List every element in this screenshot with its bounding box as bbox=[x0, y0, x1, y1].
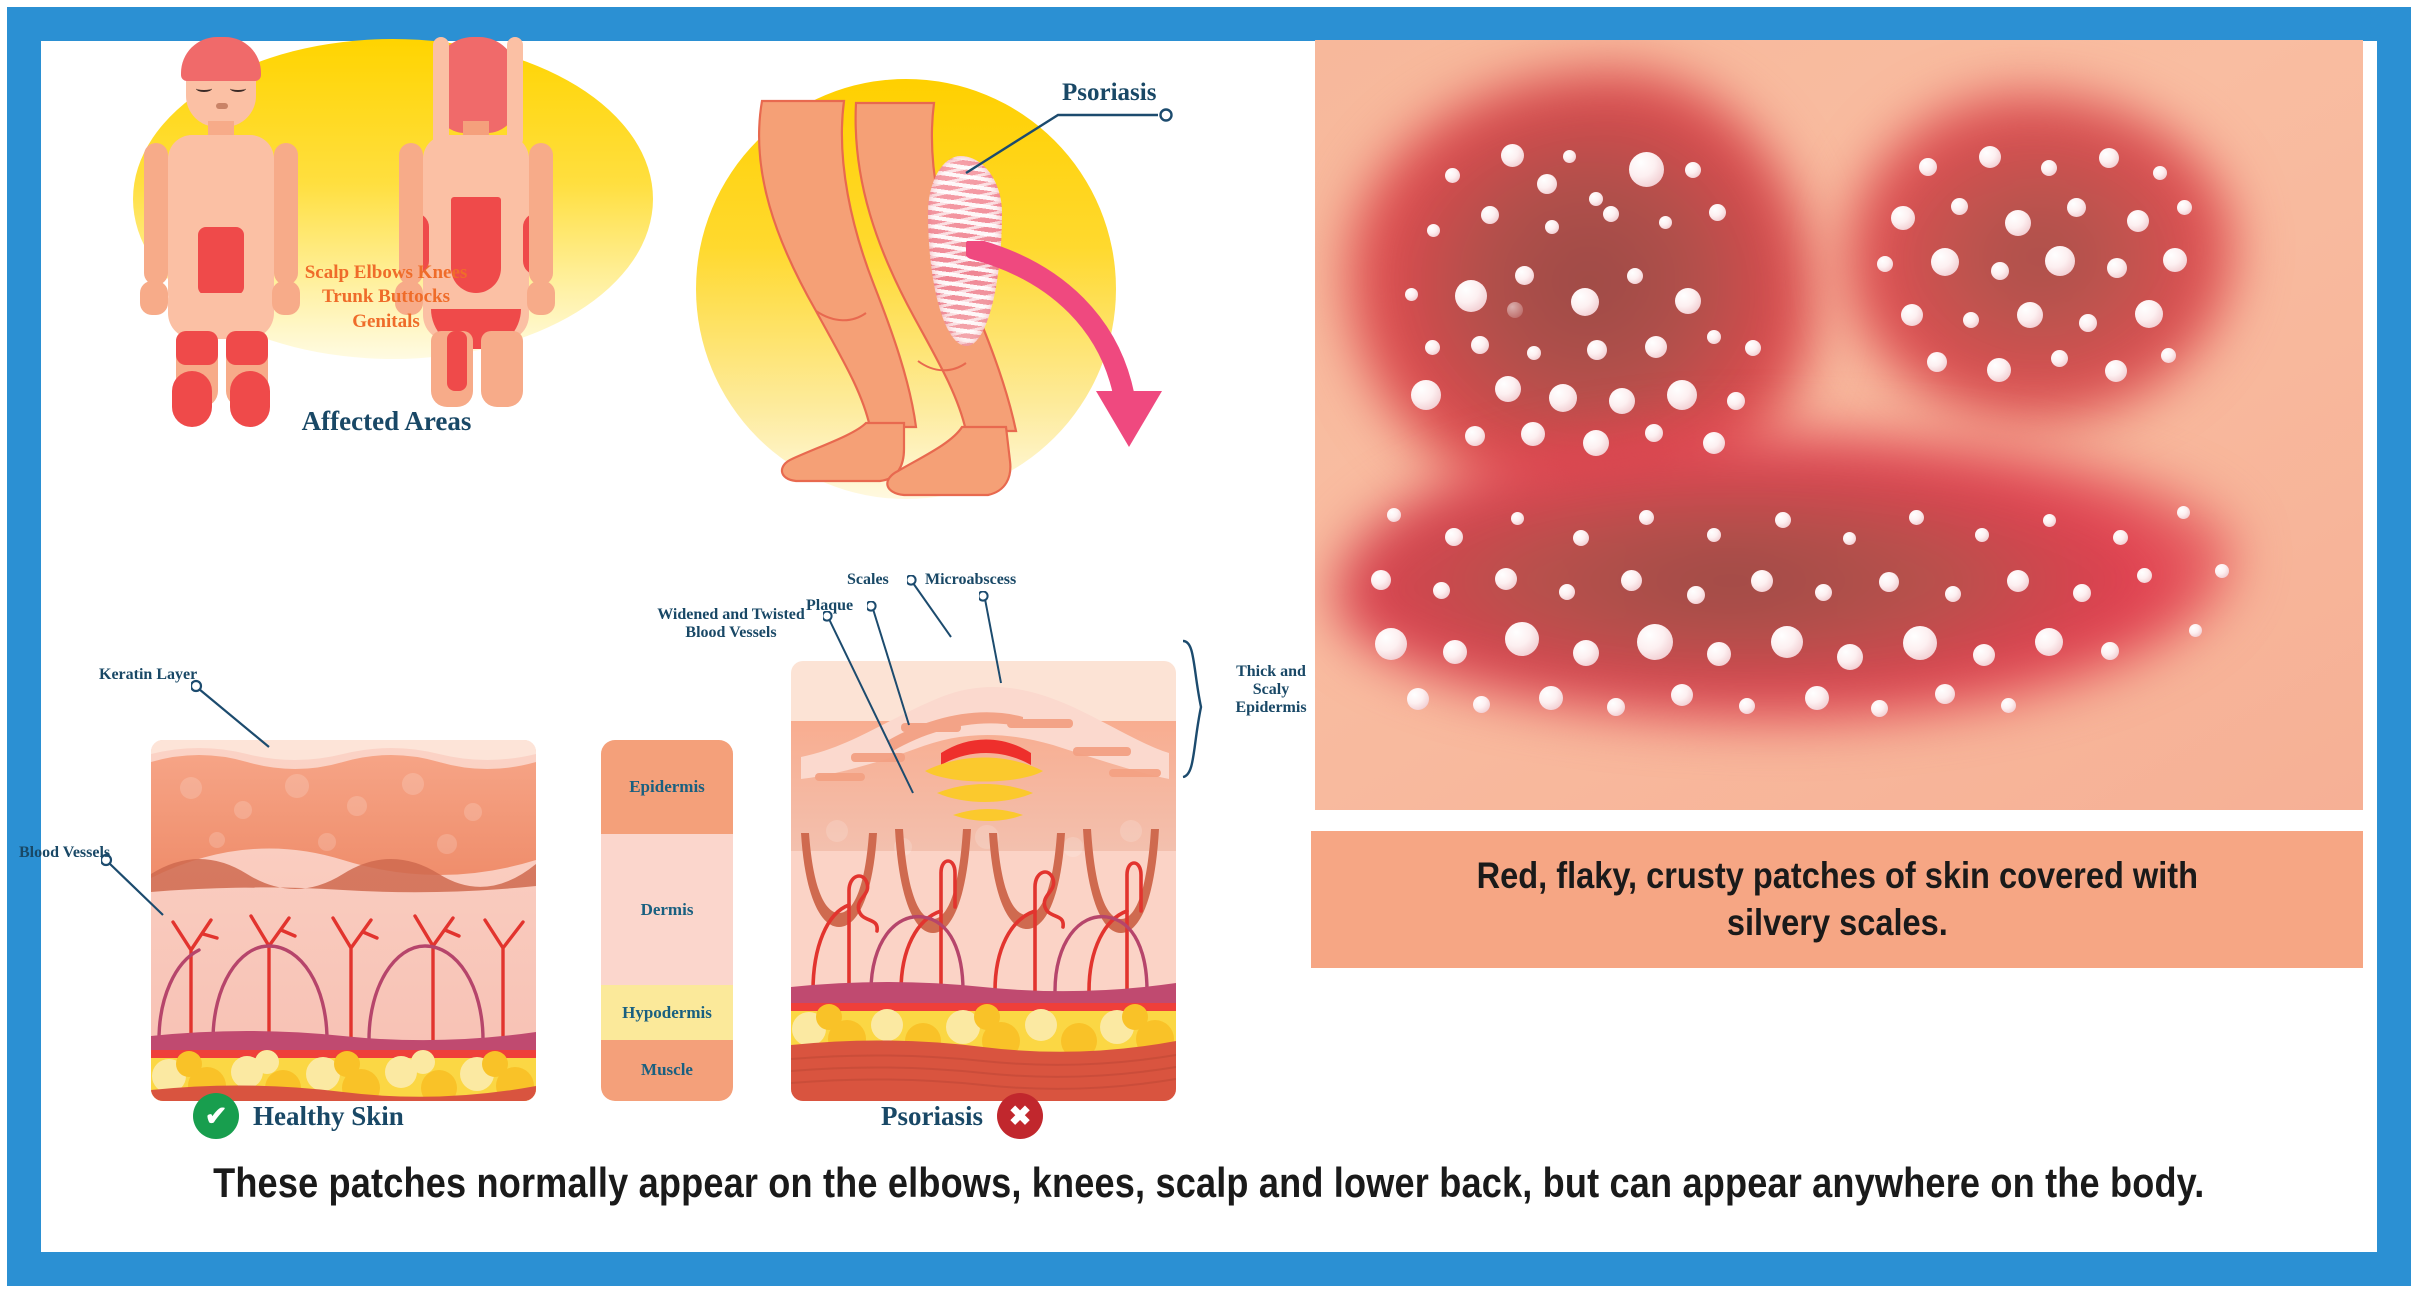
scale-dot bbox=[1573, 640, 1599, 666]
blood-vessels-leader bbox=[101, 851, 231, 931]
scale-dot bbox=[2177, 506, 2190, 519]
eye-left bbox=[196, 85, 212, 92]
scale-dot bbox=[2051, 350, 2068, 367]
scale-dot bbox=[2163, 248, 2187, 272]
scale-dot bbox=[2007, 570, 2029, 592]
scale-dot bbox=[2001, 698, 2016, 713]
scale-dot bbox=[1919, 158, 1937, 176]
hair-front bbox=[181, 37, 261, 81]
scale-dot bbox=[1979, 146, 2001, 168]
arm-left-front bbox=[144, 143, 168, 285]
widened-vessels-label: Widened and Twisted Blood Vessels bbox=[641, 606, 821, 642]
scale-dot bbox=[1843, 532, 1856, 545]
scale-dot bbox=[1687, 586, 1705, 604]
scale-dot bbox=[1987, 358, 2011, 382]
widened-vessels-leader bbox=[823, 611, 943, 801]
affected-patch-thigh-left bbox=[176, 331, 218, 365]
infographic-poster: Scalp Elbows Knees Trunk Buttocks Genita… bbox=[0, 0, 2418, 1293]
scale-dot bbox=[1837, 644, 1863, 670]
scale-dot bbox=[1425, 340, 1440, 355]
scale-dot bbox=[2073, 584, 2091, 602]
scale-dot bbox=[1501, 144, 1524, 167]
psoriasis-status: Psoriasis ✖ bbox=[881, 1093, 1043, 1139]
scale-dot bbox=[1481, 206, 1499, 224]
scale-dot bbox=[1445, 168, 1460, 183]
scale-dot bbox=[1407, 688, 1429, 710]
scales-label: Scales bbox=[847, 571, 889, 589]
leg-right-back bbox=[481, 331, 523, 407]
scale-dot bbox=[1571, 288, 1599, 316]
poster-content: Scalp Elbows Knees Trunk Buttocks Genita… bbox=[41, 41, 2377, 1252]
scale-dot bbox=[2177, 200, 2192, 215]
scale-dot bbox=[1621, 570, 1642, 591]
body-figure-back bbox=[361, 31, 591, 411]
scale-dot bbox=[1871, 700, 1888, 717]
scale-dot bbox=[2045, 246, 2075, 276]
scale-dot bbox=[2137, 568, 2152, 583]
scale-dot bbox=[2005, 210, 2031, 236]
scale-dot bbox=[1931, 248, 1959, 276]
scale-dot bbox=[1471, 336, 1489, 354]
plaque-description-text: Red, flaky, crusty patches of skin cover… bbox=[1457, 853, 2216, 946]
hair-side-right bbox=[507, 37, 523, 147]
scale-dot bbox=[1559, 584, 1575, 600]
scale-dot bbox=[1573, 530, 1589, 546]
scale-dot bbox=[1815, 584, 1832, 601]
scale-dot bbox=[2035, 628, 2063, 656]
scale-dot bbox=[1583, 430, 1609, 456]
scale-dot bbox=[1945, 586, 1961, 602]
legend-cell-epidermis: Epidermis bbox=[601, 740, 733, 834]
chest-front bbox=[168, 135, 274, 205]
scale-dot bbox=[2215, 564, 2229, 578]
body-figure-front bbox=[106, 31, 336, 411]
scale-dot bbox=[1445, 528, 1463, 546]
scale-dot bbox=[1963, 312, 1979, 328]
scale-dot bbox=[2041, 160, 2057, 176]
scale-dot bbox=[1645, 424, 1663, 442]
scale-dot bbox=[1473, 696, 1490, 713]
scale-dot bbox=[1891, 206, 1915, 230]
hair-side-left bbox=[433, 37, 449, 147]
affected-areas-title: Affected Areas bbox=[294, 406, 479, 437]
scale-dot bbox=[1935, 684, 1955, 704]
hand-right-front bbox=[272, 281, 300, 315]
microabscess-label: Microabscess bbox=[925, 571, 1016, 589]
scale-dot bbox=[2113, 530, 2128, 545]
plaque-closeup-panel bbox=[1315, 40, 2363, 810]
scale-dot bbox=[1745, 340, 1761, 356]
scale-dot bbox=[1685, 162, 1701, 178]
scale-dot bbox=[1521, 422, 1545, 446]
head-front bbox=[186, 41, 256, 127]
footer-caption: These patches normally appear on the elb… bbox=[41, 1159, 2377, 1207]
affected-patch-genitals bbox=[447, 331, 467, 391]
scale-dot bbox=[1877, 256, 1893, 272]
scale-dot bbox=[1495, 376, 1521, 402]
mouth bbox=[216, 103, 228, 109]
scale-dot bbox=[1659, 216, 1672, 229]
scale-dot bbox=[1375, 628, 1407, 660]
scale-dot bbox=[2153, 166, 2167, 180]
scale-dot bbox=[1901, 304, 1923, 326]
scale-dot bbox=[2079, 314, 2097, 332]
scale-dot bbox=[1455, 280, 1487, 312]
scale-dot bbox=[1707, 528, 1721, 542]
scale-dot bbox=[1707, 642, 1731, 666]
scale-dot bbox=[1603, 206, 1619, 222]
scale-dot bbox=[1433, 582, 1450, 599]
scale-dot bbox=[2105, 360, 2127, 382]
legend-label-muscle: Muscle bbox=[641, 1060, 693, 1080]
x-glyph: ✖ bbox=[1009, 1101, 1032, 1132]
scale-dot bbox=[1707, 330, 1721, 344]
scale-dot bbox=[1545, 220, 1559, 234]
scale-dot bbox=[1639, 510, 1654, 525]
legend-label-hypodermis: Hypodermis bbox=[622, 1003, 712, 1023]
x-circle-icon: ✖ bbox=[997, 1093, 1043, 1139]
scale-dot bbox=[1675, 288, 1701, 314]
scale-dot bbox=[1505, 622, 1539, 656]
legend-cell-muscle: Muscle bbox=[601, 1040, 733, 1101]
scale-dot bbox=[1667, 380, 1697, 410]
scale-dot bbox=[1563, 150, 1576, 163]
thick-epidermis-brace bbox=[1179, 639, 1209, 779]
scale-dot bbox=[2127, 210, 2149, 232]
scale-dot bbox=[1991, 262, 2009, 280]
scale-dot bbox=[1405, 288, 1418, 301]
scale-dot bbox=[2189, 624, 2202, 637]
scale-dot bbox=[1739, 698, 1755, 714]
scale-dot bbox=[1387, 508, 1401, 522]
plaque-description-box: Red, flaky, crusty patches of skin cover… bbox=[1311, 831, 2363, 968]
scale-dot bbox=[1371, 570, 1391, 590]
scale-dot bbox=[1927, 352, 1947, 372]
affected-patch-trunk bbox=[198, 227, 244, 295]
scale-dot bbox=[1645, 336, 1667, 358]
scale-dot bbox=[1973, 644, 1995, 666]
psoriasis-callout-label: Psoriasis bbox=[1062, 79, 1156, 107]
microabscess-leader bbox=[979, 591, 1039, 691]
scale-dot bbox=[1951, 198, 1968, 215]
legend-cell-hypodermis: Hypodermis bbox=[601, 985, 733, 1039]
scale-dot bbox=[1975, 528, 1989, 542]
scale-dot bbox=[1443, 640, 1467, 664]
scale-dot bbox=[1727, 392, 1745, 410]
scale-dot bbox=[1805, 686, 1829, 710]
scale-dot bbox=[2017, 302, 2043, 328]
arm-right-front bbox=[274, 143, 298, 285]
legend-label-dermis: Dermis bbox=[641, 900, 694, 920]
scale-dot bbox=[1627, 268, 1643, 284]
pink-arrow-icon bbox=[966, 241, 1196, 491]
scale-dot bbox=[1609, 388, 1635, 414]
legend-label-epidermis: Epidermis bbox=[629, 777, 705, 797]
scale-dot bbox=[1709, 204, 1726, 221]
scale-dot bbox=[1671, 684, 1693, 706]
psoriasis-skin-label: Psoriasis bbox=[881, 1101, 983, 1132]
hand-right-back bbox=[527, 281, 555, 315]
affected-areas-list: Scalp Elbows Knees Trunk Buttocks Genita… bbox=[301, 261, 471, 334]
check-glyph: ✔ bbox=[205, 1101, 228, 1132]
scale-dot bbox=[1515, 266, 1534, 285]
scale-dot bbox=[1879, 572, 1899, 592]
scale-dot bbox=[1637, 624, 1673, 660]
scale-dot bbox=[1539, 686, 1563, 710]
scale-dot bbox=[1771, 626, 1803, 658]
scale-dot bbox=[2067, 198, 2086, 217]
affected-patch-knee-left bbox=[172, 371, 212, 427]
scale-dot bbox=[2101, 642, 2119, 660]
arm-right-back bbox=[529, 143, 553, 285]
scale-dot bbox=[1909, 510, 1924, 525]
healthy-skin-label: Healthy Skin bbox=[253, 1101, 404, 1132]
scale-dot bbox=[2161, 348, 2176, 363]
keratin-layer-leader bbox=[191, 675, 421, 775]
scale-dot bbox=[1703, 432, 1725, 454]
eye-right bbox=[230, 85, 246, 92]
scale-dot bbox=[1589, 192, 1603, 206]
affected-patch-knee-right bbox=[230, 371, 270, 427]
scale-dot bbox=[1629, 152, 1664, 187]
plaque-patch-lower bbox=[1335, 430, 2235, 720]
scale-dot bbox=[2043, 514, 2056, 527]
scale-dot bbox=[1495, 568, 1517, 590]
check-circle-icon: ✔ bbox=[193, 1093, 239, 1139]
affected-patch-thigh-right bbox=[226, 331, 268, 365]
scale-dot bbox=[1751, 570, 1773, 592]
scale-dot bbox=[1587, 340, 1607, 360]
blood-vessels-label: Blood Vessels bbox=[19, 844, 110, 862]
affected-areas-illustration: Scalp Elbows Knees Trunk Buttocks Genita… bbox=[61, 31, 701, 411]
scale-dot bbox=[1537, 174, 1557, 194]
scale-dot bbox=[1549, 384, 1577, 412]
healthy-skin-status: ✔ Healthy Skin bbox=[193, 1093, 404, 1139]
footer-caption-text: These patches normally appear on the elb… bbox=[213, 1159, 2204, 1207]
scale-dot bbox=[1411, 380, 1441, 410]
scale-dot bbox=[1507, 302, 1523, 318]
thick-epidermis-label: Thick and Scaly Epidermis bbox=[1216, 663, 1326, 717]
keratin-layer-label: Keratin Layer bbox=[99, 666, 197, 684]
scale-dot bbox=[1607, 698, 1625, 716]
leg-lesion-illustration: Psoriasis bbox=[666, 61, 1196, 541]
scale-dot bbox=[1427, 224, 1440, 237]
scale-dot bbox=[1465, 426, 1485, 446]
scale-dot bbox=[2107, 258, 2127, 278]
scale-dot bbox=[2099, 148, 2119, 168]
scale-dot bbox=[1511, 512, 1524, 525]
scale-dot bbox=[1775, 512, 1791, 528]
scale-dot bbox=[1903, 626, 1937, 660]
skin-layer-legend: Epidermis Dermis Hypodermis Muscle bbox=[601, 740, 733, 1101]
hand-left-front bbox=[140, 281, 168, 315]
upper-back bbox=[423, 135, 529, 201]
head-back bbox=[441, 41, 511, 127]
scale-dot bbox=[1527, 346, 1541, 360]
legend-cell-dermis: Dermis bbox=[601, 834, 733, 986]
scale-dot bbox=[2135, 300, 2163, 328]
